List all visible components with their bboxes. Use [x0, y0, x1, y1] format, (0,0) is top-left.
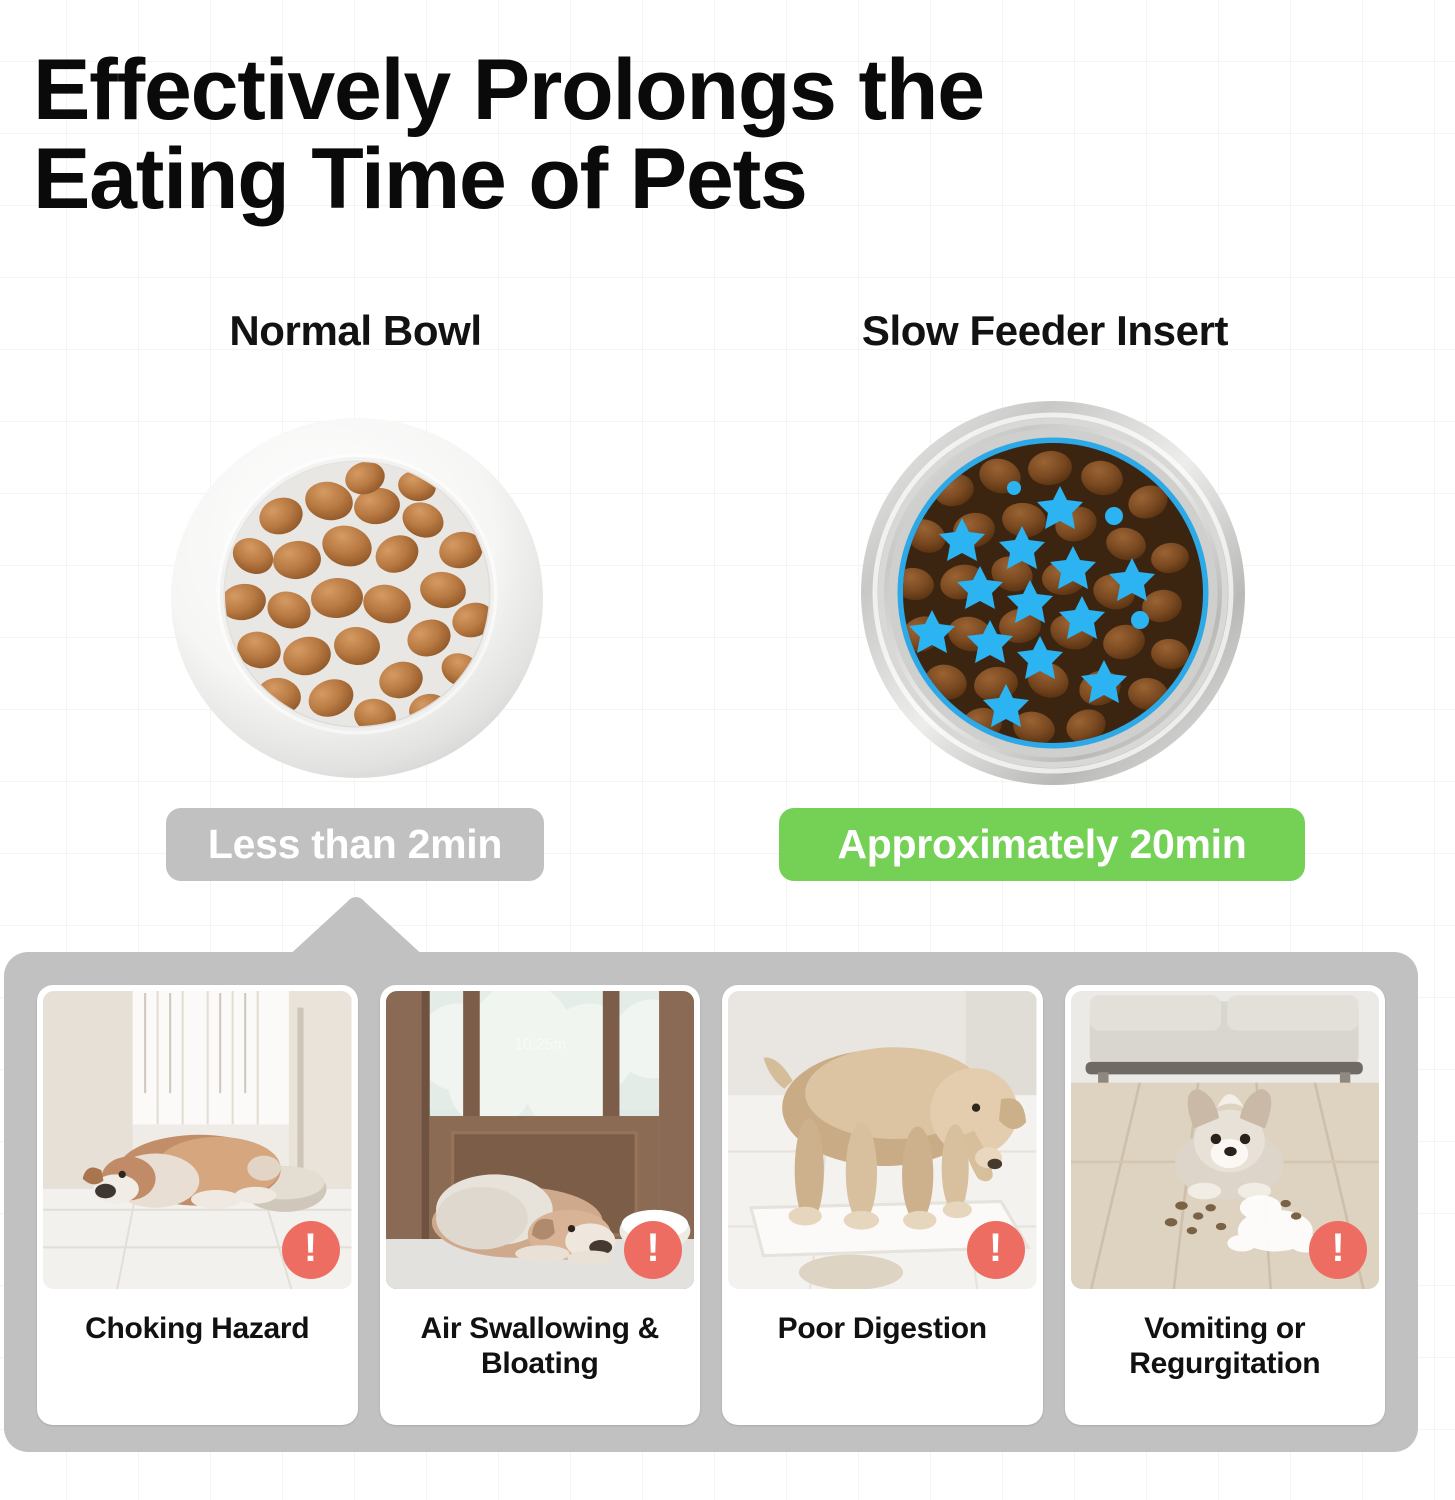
caption-line-1: Poor Digestion: [778, 1312, 987, 1345]
caption-line-1: Choking Hazard: [85, 1312, 309, 1345]
steel-bowl-with-blue-star-insert-icon: [858, 398, 1248, 788]
risk-card-caption: Choking Hazard: [37, 1289, 358, 1425]
warning-icon: !: [967, 1221, 1025, 1279]
warning-icon: !: [624, 1221, 682, 1279]
page-title-line-2: Eating Time of Pets: [33, 135, 1213, 224]
normal-bowl-time-badge: Less than 2min: [166, 808, 544, 881]
risk-card-caption: Vomiting or Regurgitation: [1065, 1289, 1386, 1425]
infographic-page: Effectively Prolongs the Eating Time of …: [0, 0, 1455, 1500]
warning-icon: !: [1309, 1221, 1367, 1279]
warning-icon: !: [282, 1221, 340, 1279]
normal-bowl-label: Normal Bowl: [108, 307, 603, 355]
caption-line-1: Air Swallowing &: [420, 1312, 659, 1345]
slow-feeder-time-badge: Approximately 20min: [779, 808, 1305, 881]
risk-cards-container: ! Choking Hazard: [37, 985, 1385, 1425]
caption-line-1: Vomiting or: [1144, 1312, 1305, 1345]
risk-card-vomiting-regurgitation[interactable]: ! Vomiting or Regurgitation: [1065, 985, 1386, 1425]
svg-text:10:25m: 10:25m: [514, 1036, 566, 1053]
risk-card-poor-digestion[interactable]: ! Poor Digestion: [722, 985, 1043, 1425]
card-photo-dog-by-glass-door: 10:25m !: [386, 991, 695, 1289]
page-title-line-1: Effectively Prolongs the: [33, 42, 984, 138]
risk-card-caption: Poor Digestion: [722, 1289, 1043, 1425]
card-photo-chihuahua-with-vomit: !: [1071, 991, 1380, 1289]
slow-feeder-bowl-image: [858, 398, 1248, 788]
card-photo-corgi-lying-on-floor: !: [43, 991, 352, 1289]
risk-card-air-swallowing-bloating[interactable]: 10:25m !: [380, 985, 701, 1425]
normal-bowl-image: [161, 398, 551, 788]
slow-feeder-label: Slow Feeder Insert: [790, 307, 1300, 355]
white-bowl-with-kibble-icon: [161, 398, 551, 788]
caption-line-2: Regurgitation: [1129, 1347, 1320, 1380]
card-photo-dog-on-mat-with-puddle: !: [728, 991, 1037, 1289]
risk-card-choking-hazard[interactable]: ! Choking Hazard: [37, 985, 358, 1425]
page-title: Effectively Prolongs the Eating Time of …: [33, 46, 1213, 223]
risk-card-caption: Air Swallowing & Bloating: [380, 1289, 701, 1425]
caption-line-2: Bloating: [481, 1347, 599, 1380]
